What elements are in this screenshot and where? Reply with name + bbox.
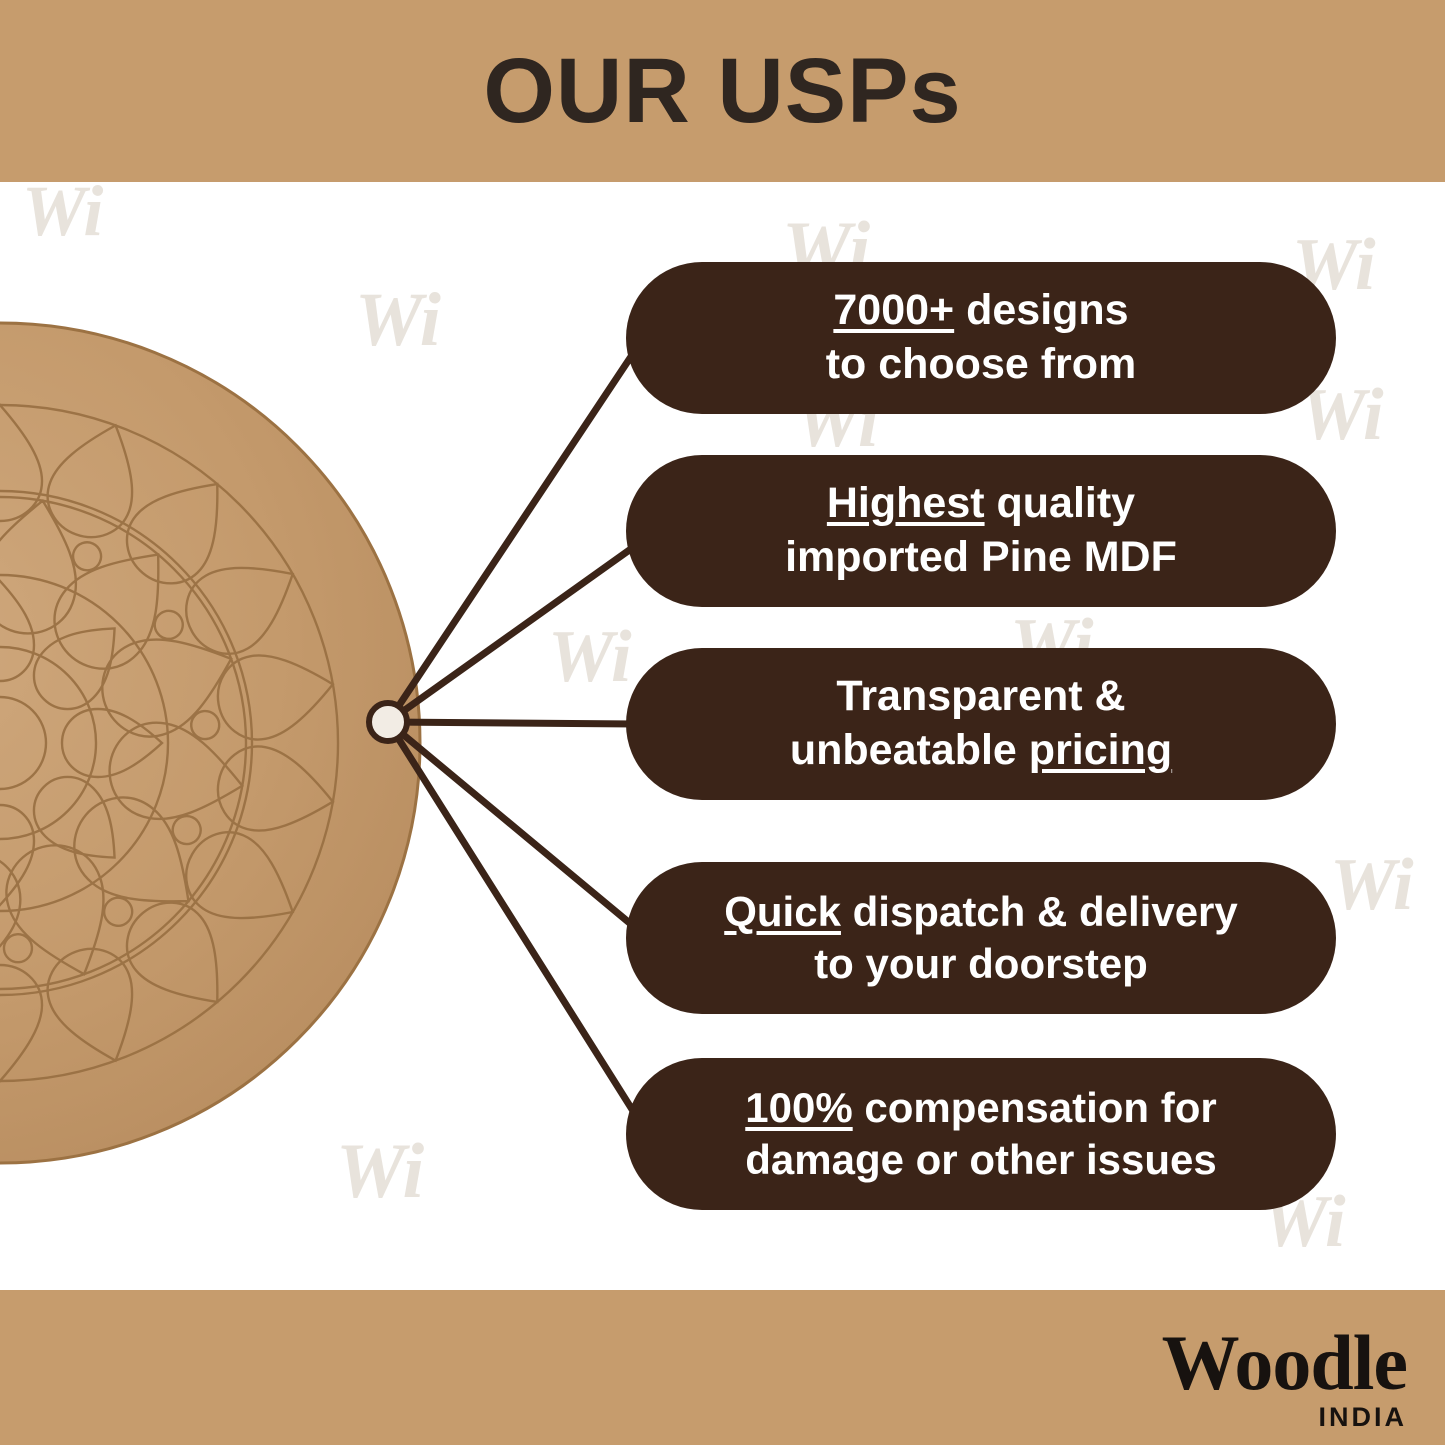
usp-pill-compensation[interactable]: 100% compensation for damage or other is… — [626, 1058, 1336, 1210]
usp-pill-dispatch[interactable]: Quick dispatch & delivery to your doorst… — [626, 862, 1336, 1014]
usp-2-line1-rest: quality — [985, 479, 1136, 527]
usp-2-highlight: Highest — [827, 479, 985, 527]
watermark-wi: Wi — [1330, 848, 1414, 922]
usp-4-line1-rest: dispatch & delivery — [841, 888, 1238, 935]
usp-2-line2: imported Pine MDF — [785, 533, 1177, 581]
usp-5-line1-rest: compensation for — [853, 1084, 1217, 1131]
brand-subtitle: INDIA — [1162, 1404, 1407, 1431]
brand-logo: Woodle INDIA — [1162, 1324, 1407, 1431]
watermark-wi: Wi — [22, 175, 103, 247]
usp-pill-quality[interactable]: Highest quality imported Pine MDF — [626, 455, 1336, 607]
infographic-canvas: Wi Wi Wi Wi Wi Wi Wi Wi Wi Wi Wi — [0, 0, 1445, 1445]
usp-3-highlight: pricing — [1029, 726, 1172, 774]
usp-1-line2: to choose from — [826, 340, 1137, 388]
usp-4-highlight: Quick — [724, 888, 841, 935]
usp-3-line1: Transparent & — [836, 672, 1125, 720]
usp-1-highlight: 7000+ — [833, 286, 954, 334]
usp-3-line2-pre: unbeatable — [790, 726, 1029, 774]
usp-5-highlight: 100% — [745, 1084, 852, 1131]
watermark-wi: Wi — [548, 620, 632, 694]
brand-name: Woodle — [1162, 1324, 1407, 1402]
page-title: OUR USPs — [0, 0, 1445, 182]
usp-pill-designs[interactable]: 7000+ designs to choose from — [626, 262, 1336, 414]
usp-pill-pricing[interactable]: Transparent & unbeatable pricing — [626, 648, 1336, 800]
hub-node-icon — [366, 700, 410, 744]
usp-1-line1-rest: designs — [954, 286, 1128, 334]
usp-4-line2: to your doorstep — [814, 940, 1148, 987]
usp-5-line2: damage or other issues — [745, 1136, 1217, 1183]
